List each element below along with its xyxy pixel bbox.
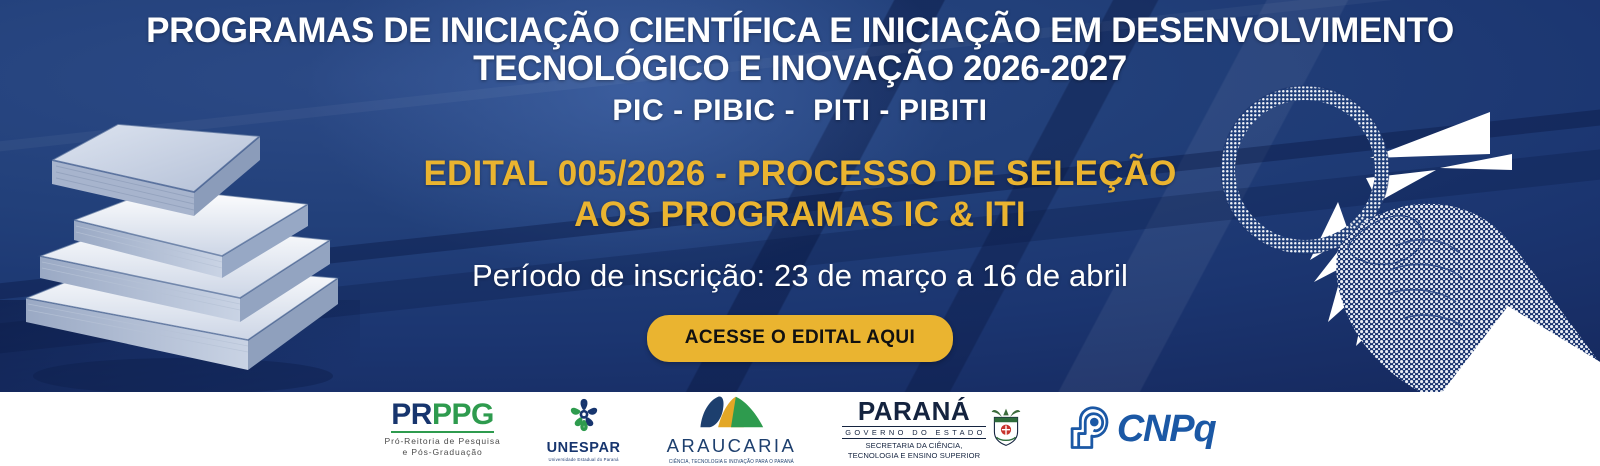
logo-cnpq[interactable]: CNPq xyxy=(1067,404,1216,455)
prppg-tagline-line2: e Pós-Graduação xyxy=(385,447,501,458)
araucaria-wordmark: ARAUCARIA xyxy=(667,435,797,457)
logo-unespar[interactable]: UNESPAR Universidade Estadual do Paraná xyxy=(547,396,621,462)
parana-secretaria-label: SECRETARIA DA CIÊNCIA, TECNOLOGIA E ENSI… xyxy=(848,441,980,460)
logo-parana-governo[interactable]: PARANÁ GOVERNO DO ESTADO SECRETARIA DA C… xyxy=(842,398,1021,460)
parana-secretaria-line2: TECNOLOGIA E ENSINO SUPERIOR xyxy=(848,451,980,461)
cta-row: ACESSE O EDITAL AQUI xyxy=(0,315,1600,362)
edital-heading-line1: EDITAL 005/2026 - PROCESSO DE SELEÇÃO xyxy=(0,153,1600,194)
prppg-word-part2: PPG xyxy=(432,398,494,431)
prppg-tagline-line1: Pró-Reitoria de Pesquisa xyxy=(385,436,501,447)
footer-logo-bar: PRPPG Pró-Reitoria de Pesquisa e Pós-Gra… xyxy=(0,392,1600,466)
parana-governo-label: GOVERNO DO ESTADO xyxy=(842,426,986,439)
banner-title-line1: PROGRAMAS DE INICIAÇÃO CIENTÍFICA E INIC… xyxy=(0,12,1600,50)
edital-banner: PROGRAMAS DE INICIAÇÃO CIENTÍFICA E INIC… xyxy=(0,0,1600,466)
parana-coat-of-arms-icon xyxy=(991,407,1021,452)
edital-heading-line2: AOS PROGRAMAS IC & ITI xyxy=(0,194,1600,235)
unespar-tagline: Universidade Estadual do Paraná xyxy=(549,457,619,463)
registration-period: Período de inscrição: 23 de março a 16 d… xyxy=(0,257,1600,295)
parana-secretaria-line1: SECRETARIA DA CIÊNCIA, xyxy=(848,441,980,451)
logo-araucaria[interactable]: ARAUCARIA CIÊNCIA, TECNOLOGIA E INOVAÇÃO… xyxy=(667,395,797,464)
banner-text-block: PROGRAMAS DE INICIAÇÃO CIENTÍFICA E INIC… xyxy=(0,0,1600,362)
parana-wordmark: PARANÁ xyxy=(858,398,970,424)
cnpq-head-icon xyxy=(1067,404,1115,455)
prppg-word-part1: PR xyxy=(391,398,432,431)
program-acronyms: PIC - PIBIC - PITI - PIBITI xyxy=(0,91,1600,131)
prppg-wordmark: PRPPG xyxy=(391,400,494,433)
access-edital-button[interactable]: ACESSE O EDITAL AQUI xyxy=(647,315,953,362)
prppg-tagline: Pró-Reitoria de Pesquisa e Pós-Graduação xyxy=(385,436,501,458)
unespar-flower-icon xyxy=(563,396,605,439)
araucaria-tagline: CIÊNCIA, TECNOLOGIA E INOVAÇÃO PARA O PA… xyxy=(669,458,794,464)
banner-title-line2: TECNOLÓGICO E INOVAÇÃO 2026-2027 xyxy=(0,50,1600,88)
cnpq-wordmark: CNPq xyxy=(1117,410,1216,448)
logo-prppg[interactable]: PRPPG Pró-Reitoria de Pesquisa e Pós-Gra… xyxy=(385,400,501,458)
unespar-wordmark: UNESPAR xyxy=(547,440,621,456)
araucaria-mountain-icon xyxy=(694,395,768,434)
